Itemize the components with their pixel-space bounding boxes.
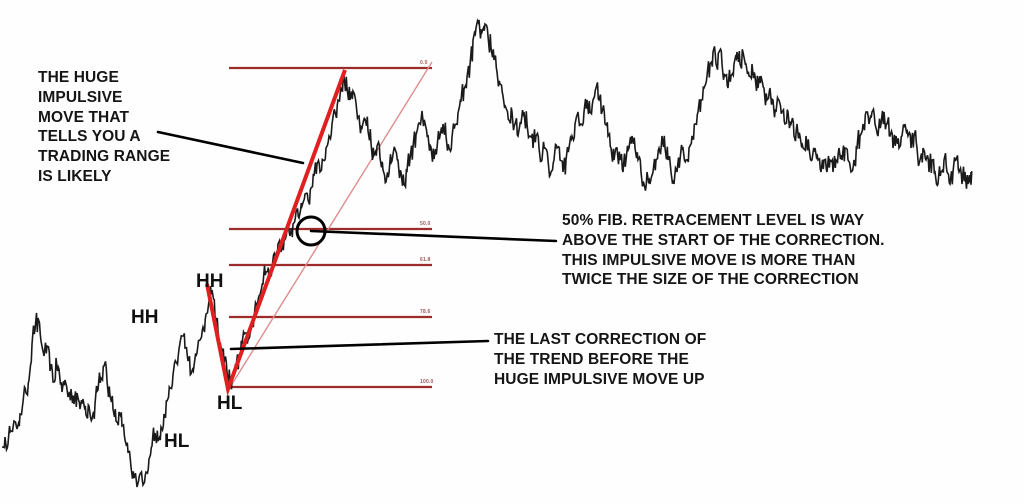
fib-level-label: 100.0: [420, 379, 434, 385]
fib-level-label: 0.0: [420, 60, 428, 66]
fib-level-label: 61.8: [420, 257, 431, 263]
annotation-last-correction: THE LAST CORRECTION OF THE TREND BEFORE …: [494, 330, 706, 389]
impulse-leader: [158, 132, 303, 163]
swing-label-hh-1: HH: [131, 307, 158, 329]
fib-leader: [311, 231, 556, 241]
chart-canvas: THE HUGE IMPULSIVE MOVE THAT TELLS YOU A…: [0, 0, 1024, 504]
swing-label-hl-1: HL: [164, 431, 189, 453]
fib-level-label: 50.0: [420, 221, 431, 227]
annotation-impulsive-move: THE HUGE IMPULSIVE MOVE THAT TELLS YOU A…: [38, 68, 170, 187]
correction-leader: [231, 341, 488, 349]
annotation-fib-retracement: 50% FIB. RETRACEMENT LEVEL IS WAY ABOVE …: [562, 211, 885, 290]
swing-label-hh-2: HH: [196, 271, 223, 293]
fib-level-label: 78.6: [420, 309, 431, 315]
swing-label-hl-2: HL: [217, 393, 242, 415]
